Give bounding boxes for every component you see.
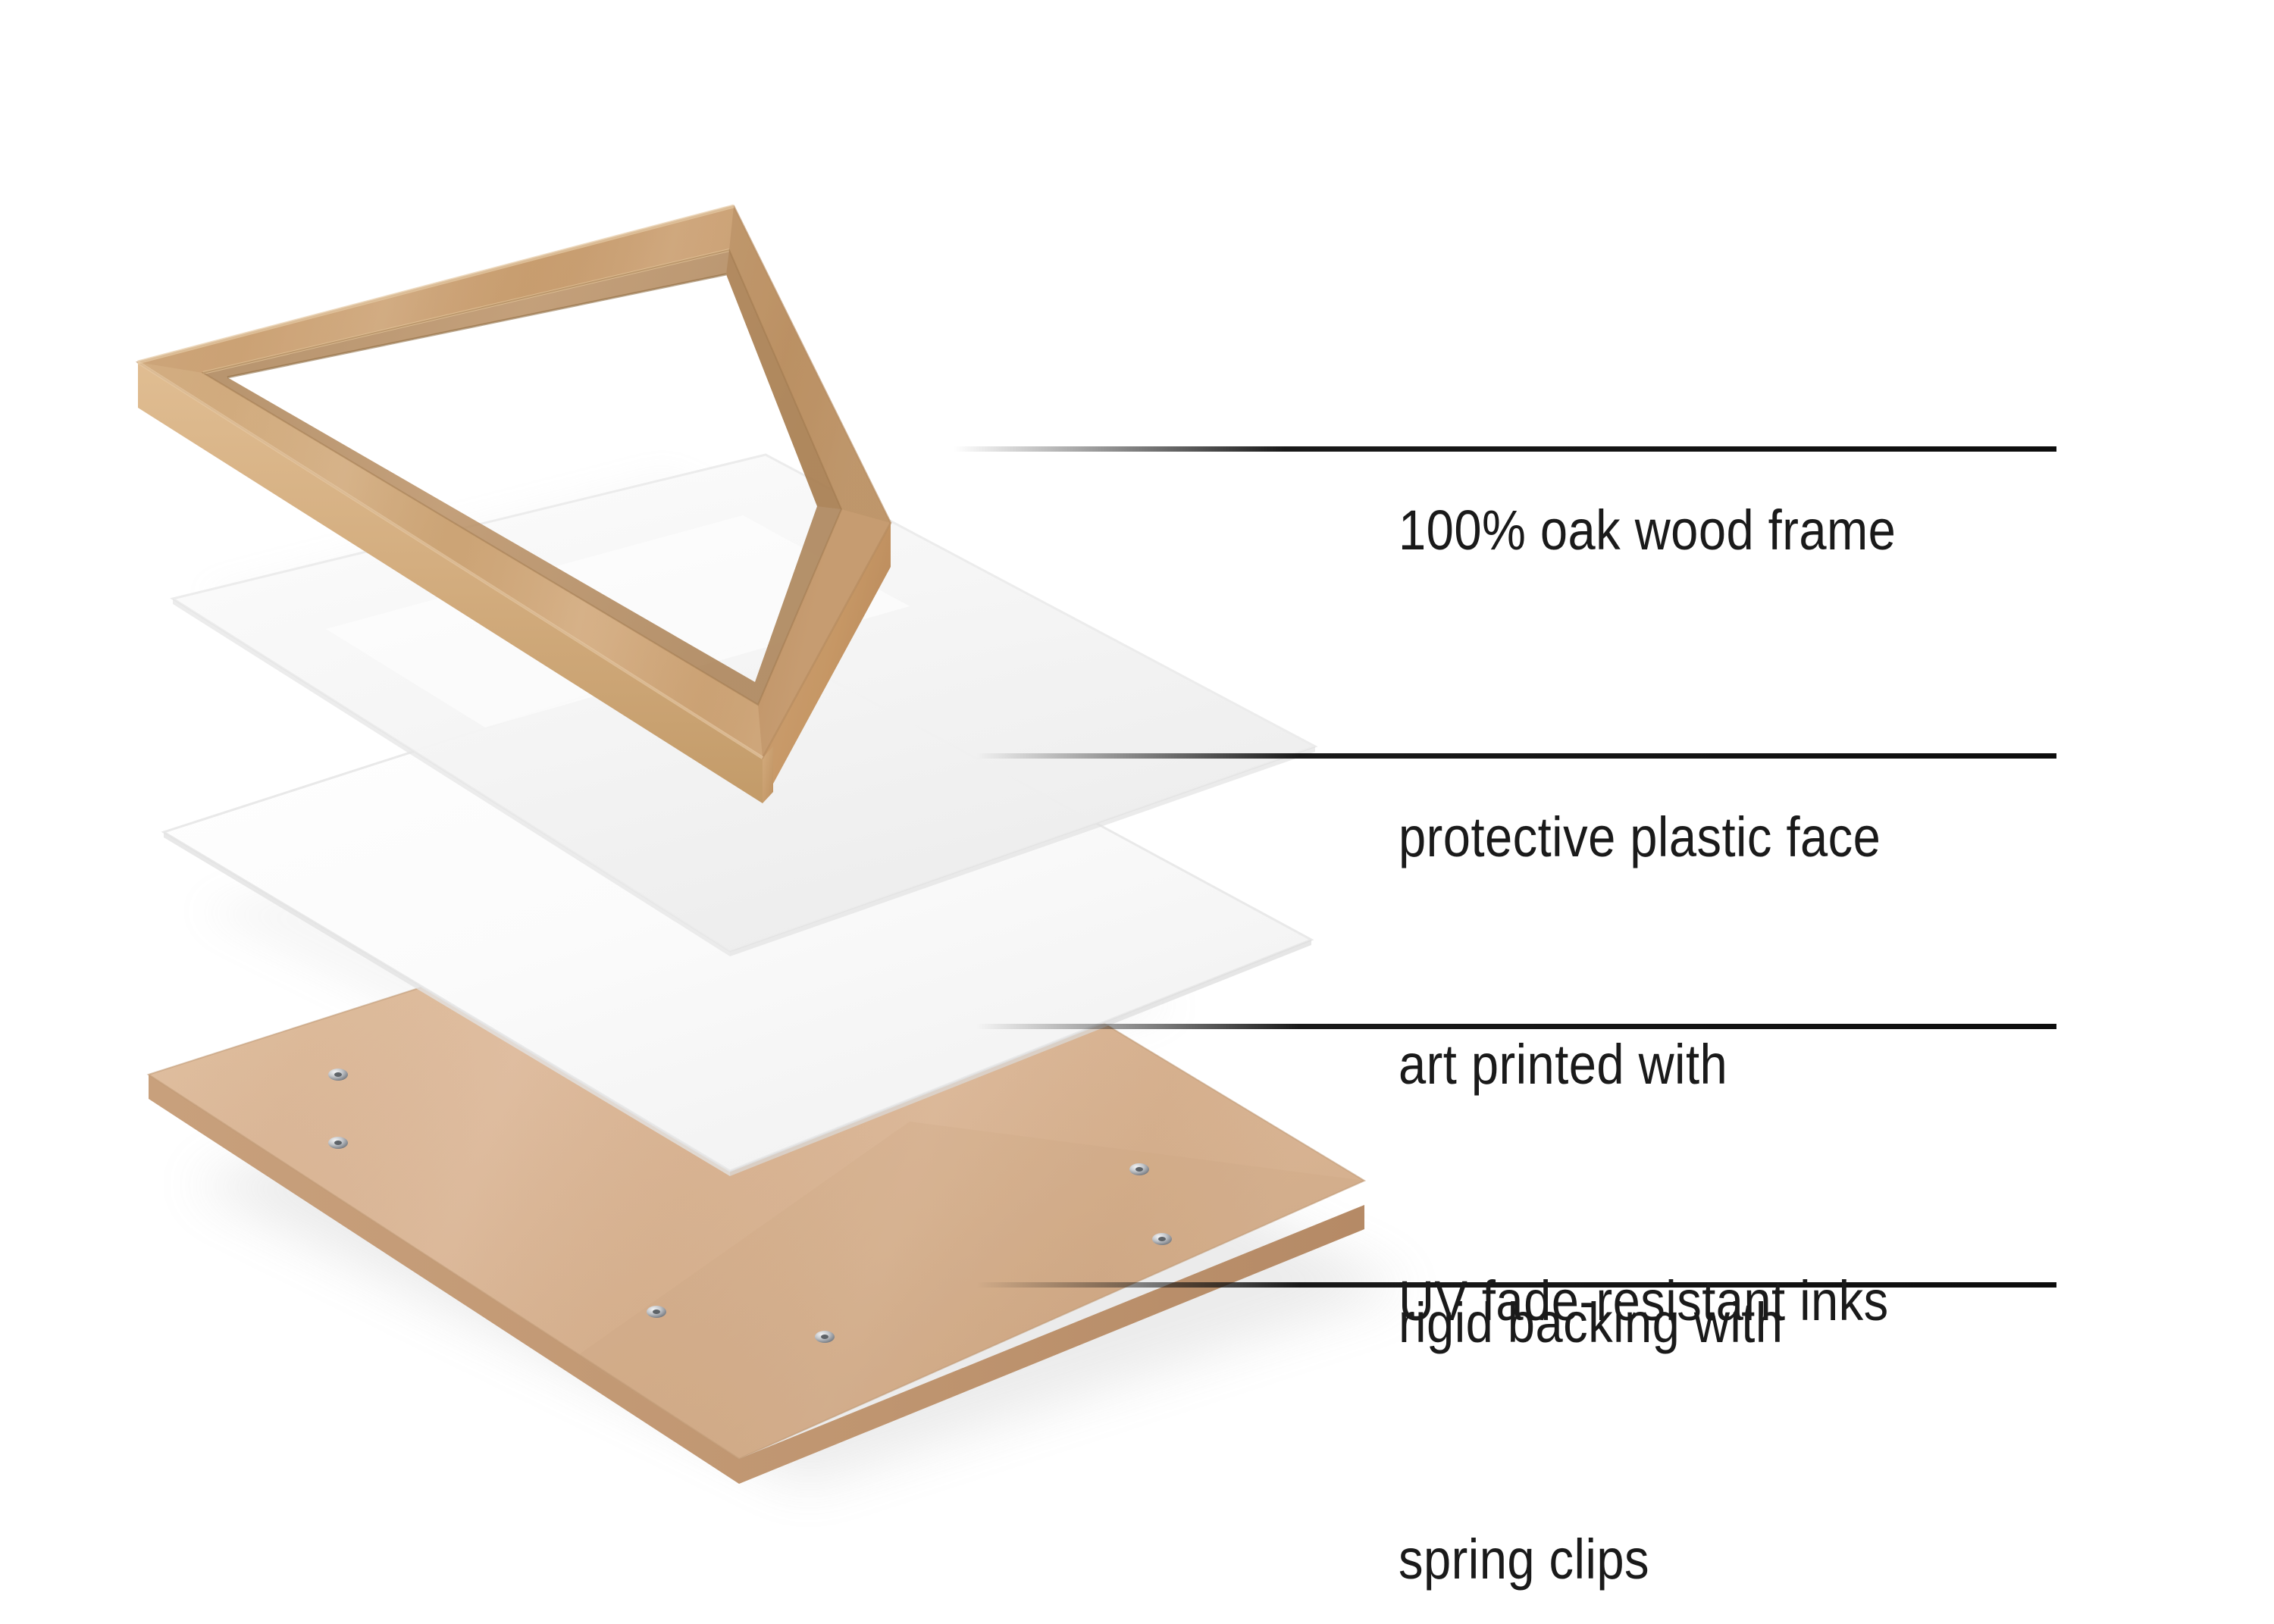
exploded-diagram-canvas: 100% oak wood frame protective plastic f… xyxy=(0,0,2274,1624)
callout-frame-line-1: 100% oak wood frame xyxy=(1399,491,1896,570)
product-illustration xyxy=(0,0,2274,1624)
callout-plastic-line-1: protective plastic face xyxy=(1399,798,1881,877)
callout-art-line-1: art printed with xyxy=(1399,1025,1889,1104)
callout-backing-line-2: spring clips xyxy=(1399,1520,1783,1599)
callout-backing: rigid backing with spring clips xyxy=(1399,1126,1783,1624)
callout-backing-line-1: rigid backing with xyxy=(1399,1284,1783,1363)
